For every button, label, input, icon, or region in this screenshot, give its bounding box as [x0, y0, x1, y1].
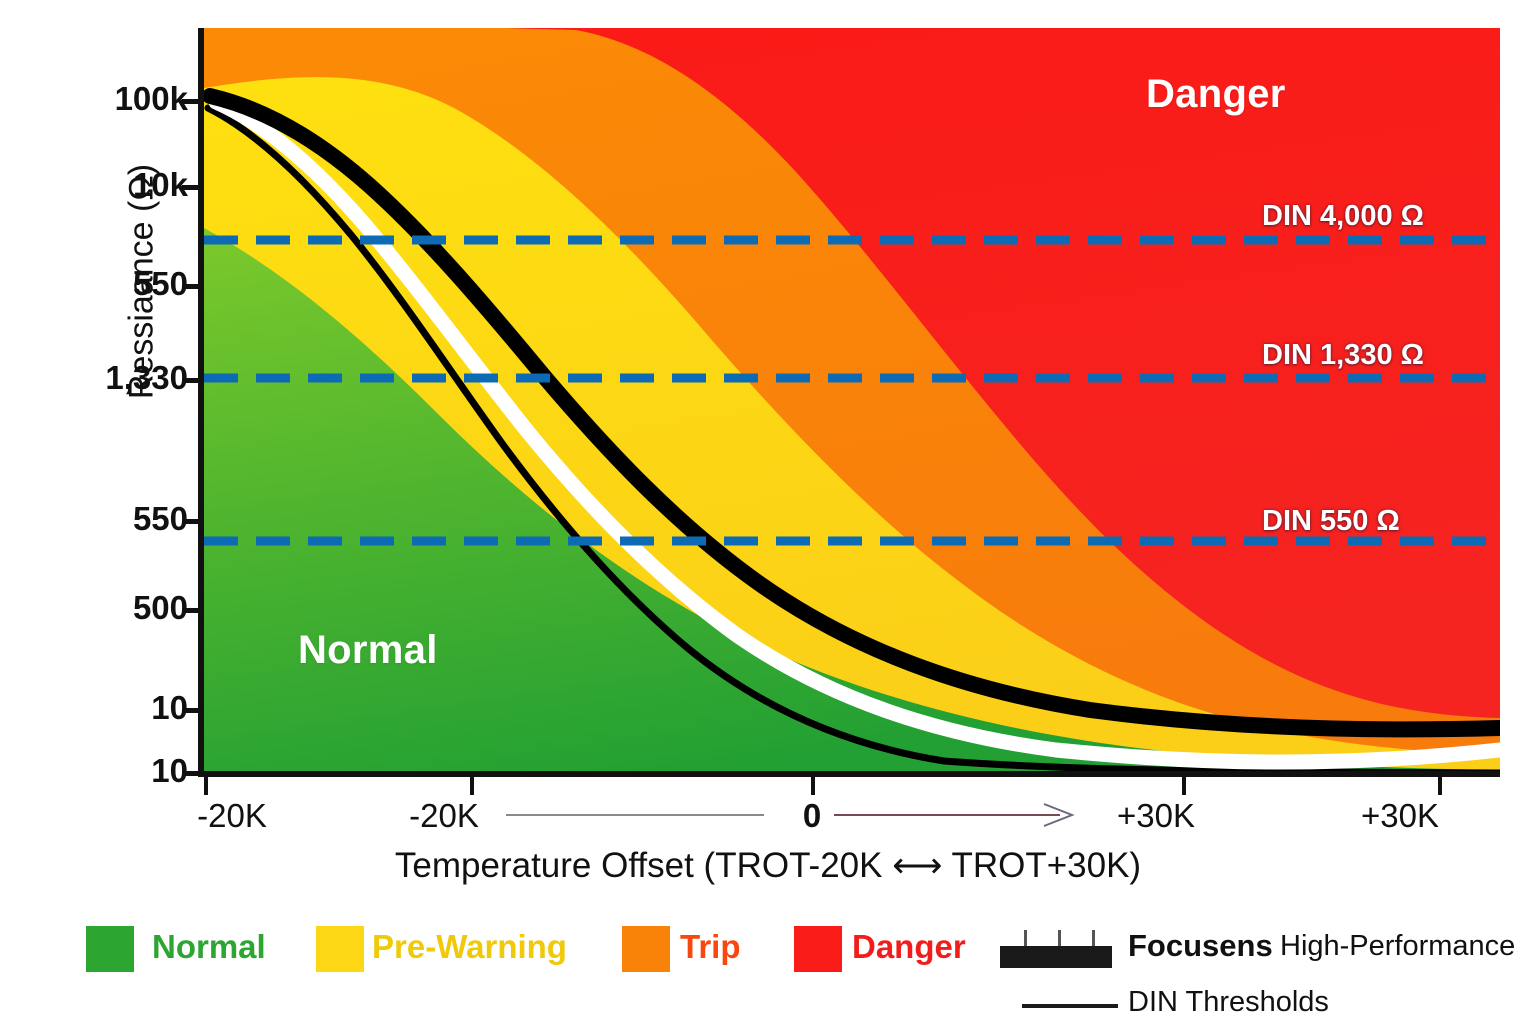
chart-figure: 100k 10k 550 1,330 550 500 10 10 Ressiaa…: [0, 0, 1536, 1024]
y-axis-tick-label: 550: [133, 500, 188, 538]
legend-swatch-trip: [622, 926, 670, 972]
x-axis-tick: [1182, 777, 1186, 795]
legend-swatch-danger: [794, 926, 842, 972]
region-label-danger: Danger: [1146, 72, 1286, 117]
legend-label-normal: Normal: [152, 928, 266, 966]
x-axis-title: Temperature Offset (TROT-20K ⟷ TROT+30K): [0, 846, 1536, 886]
x-axis-tick: [1438, 777, 1442, 795]
x-axis-tick: [204, 777, 208, 795]
x-axis-tick-label: -20K: [409, 797, 479, 835]
y-axis-tick-label: 10: [151, 689, 188, 727]
x-axis-tick-label: -20K: [197, 797, 267, 835]
x-axis-tick: [811, 777, 815, 795]
legend-label-din-thresholds: DIN Thresholds: [1128, 986, 1329, 1019]
legend-line-focusens: [1000, 946, 1112, 968]
legend-swatch-normal: [86, 926, 134, 972]
din-threshold-label-1330: DIN 1,330 Ω: [1262, 339, 1424, 372]
x-axis-spine: [198, 771, 1500, 777]
legend-label-high-performance: High-Performance: [1280, 930, 1515, 963]
legend-label-danger: Danger: [852, 928, 966, 966]
x-axis-tick: [470, 777, 474, 795]
x-axis-tick-label: +30K: [1117, 797, 1195, 835]
legend-swatch-pre-warning: [316, 926, 364, 972]
region-label-normal: Normal: [298, 628, 438, 673]
legend-line-din: [1022, 1004, 1118, 1008]
legend-tick-mark: [1024, 930, 1027, 946]
y-axis-tick-label: 10: [151, 752, 188, 790]
y-axis-spine: [198, 28, 204, 777]
din-threshold-label-4000: DIN 4,000 Ω: [1262, 200, 1424, 233]
legend-label-trip: Trip: [680, 928, 741, 966]
x-axis-tick-label: +30K: [1361, 797, 1439, 835]
legend-tick-mark: [1092, 930, 1095, 946]
y-axis-tick-label: 500: [133, 589, 188, 627]
legend-label-focusens: Focusens: [1128, 928, 1273, 964]
legend-label-pre-warning: Pre-Warning: [372, 928, 567, 966]
y-axis-title: Ressiaance (Ω): [123, 112, 162, 452]
chart-legend: Normal Pre-Warning Trip Danger Focusens …: [0, 916, 1536, 1024]
din-threshold-label-550: DIN 550 Ω: [1262, 505, 1400, 538]
legend-tick-mark: [1058, 930, 1061, 946]
x-axis-range-arrow: [504, 800, 1094, 830]
